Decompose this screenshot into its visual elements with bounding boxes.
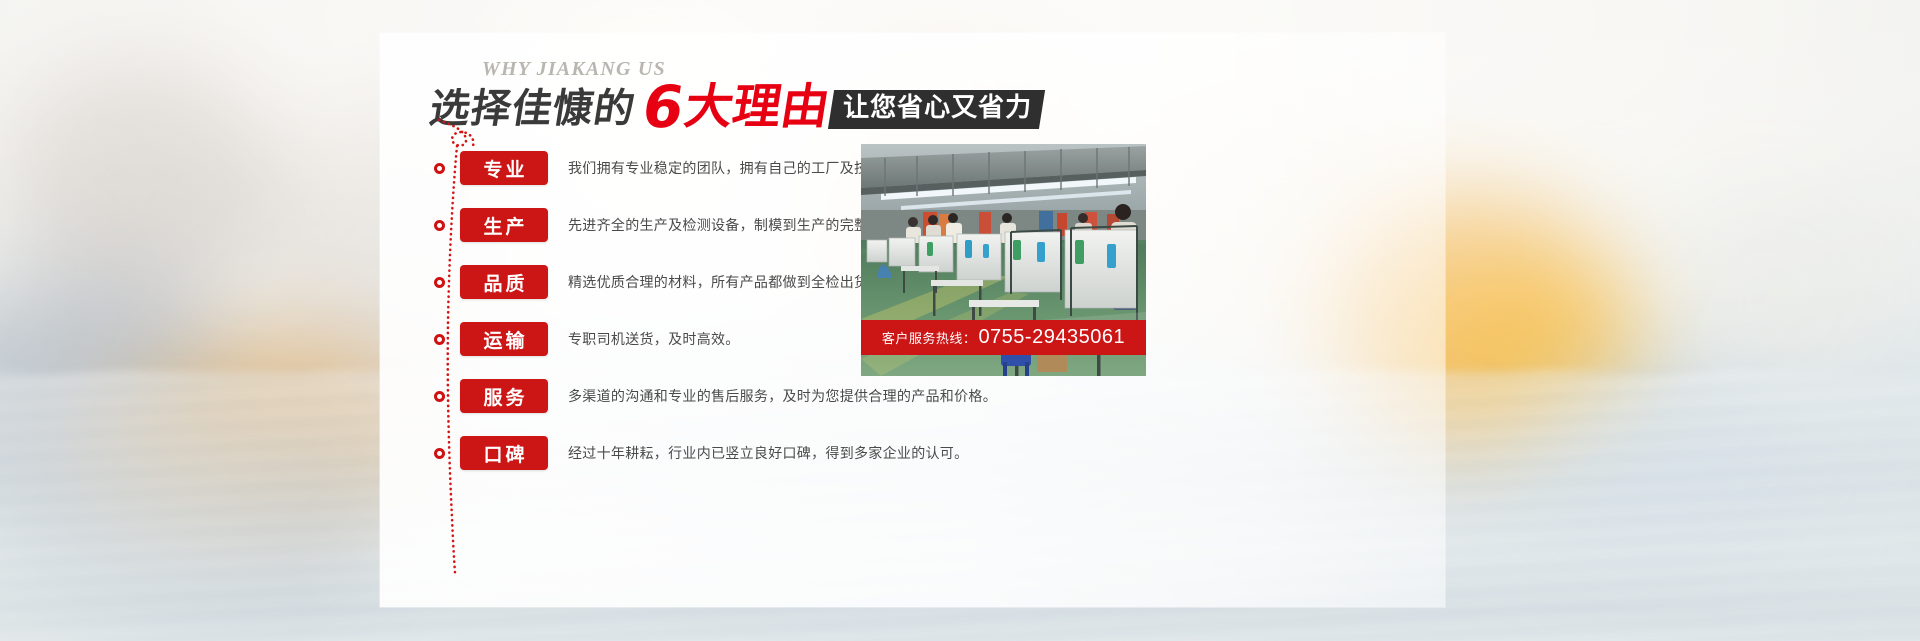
title-tag-text: 让您省心又省力 xyxy=(844,95,1033,122)
bullet-dot-icon xyxy=(434,334,445,345)
reason-badge-5: 服务 xyxy=(460,379,548,413)
title-number: 6 xyxy=(639,83,687,132)
reason-text-4: 专职司机送货，及时高效。 xyxy=(568,329,740,349)
bullet-dot-icon xyxy=(434,391,445,402)
title-main-row: 选择佳慷的 6 大理由 让您省心又省力 xyxy=(430,83,1042,129)
reason-text-6: 经过十年耕耘，行业内已竖立良好口碑，得到多家企业的认可。 xyxy=(568,443,968,463)
bullet-dot-icon xyxy=(434,220,445,231)
reason-badge-4: 运输 xyxy=(460,322,548,356)
bullet-dot-icon xyxy=(434,448,445,459)
reason-text-5: 多渠道的沟通和专业的售后服务，及时为您提供合理的产品和价格。 xyxy=(568,386,997,406)
bullet-dot-icon xyxy=(434,163,445,174)
reason-badge-2: 生产 xyxy=(460,208,548,242)
title-english: WHY JIAKANG US xyxy=(482,58,666,81)
hotline-label: 客户服务热线： xyxy=(882,328,977,347)
title-red-text: 大理由 xyxy=(682,85,833,131)
reason-text-1: 我们拥有专业稳定的团队，拥有自己的工厂及技术。 xyxy=(568,158,897,178)
reason-badge-3: 品质 xyxy=(460,265,548,299)
reason-item-6[interactable]: 口碑 经过十年耕耘，行业内已竖立良好口碑，得到多家企业的认可。 xyxy=(430,436,1050,470)
reason-badge-1: 专业 xyxy=(460,151,548,185)
title-tag-box: 让您省心又省力 xyxy=(828,90,1045,129)
reason-text-2: 先进齐全的生产及检测设备，制模到生产的完整工艺。 xyxy=(568,215,911,235)
content-panel: WHY JIAKANG US 选择佳慷的 6 大理由 让您省心又省力 专业 我们… xyxy=(380,33,1445,607)
hotline-number: 0755-29435061 xyxy=(978,326,1125,349)
reason-item-5[interactable]: 服务 多渠道的沟通和专业的售后服务，及时为您提供合理的产品和价格。 xyxy=(430,379,1050,413)
reason-badge-6: 口碑 xyxy=(460,436,548,470)
title-prefix: 选择佳慷的 xyxy=(427,89,638,129)
hotline-bar[interactable]: 客户服务热线： 0755-29435061 xyxy=(861,320,1146,355)
reason-text-3: 精选优质合理的材料，所有产品都做到全检出货。 xyxy=(568,272,883,292)
bullet-dot-icon xyxy=(434,277,445,288)
